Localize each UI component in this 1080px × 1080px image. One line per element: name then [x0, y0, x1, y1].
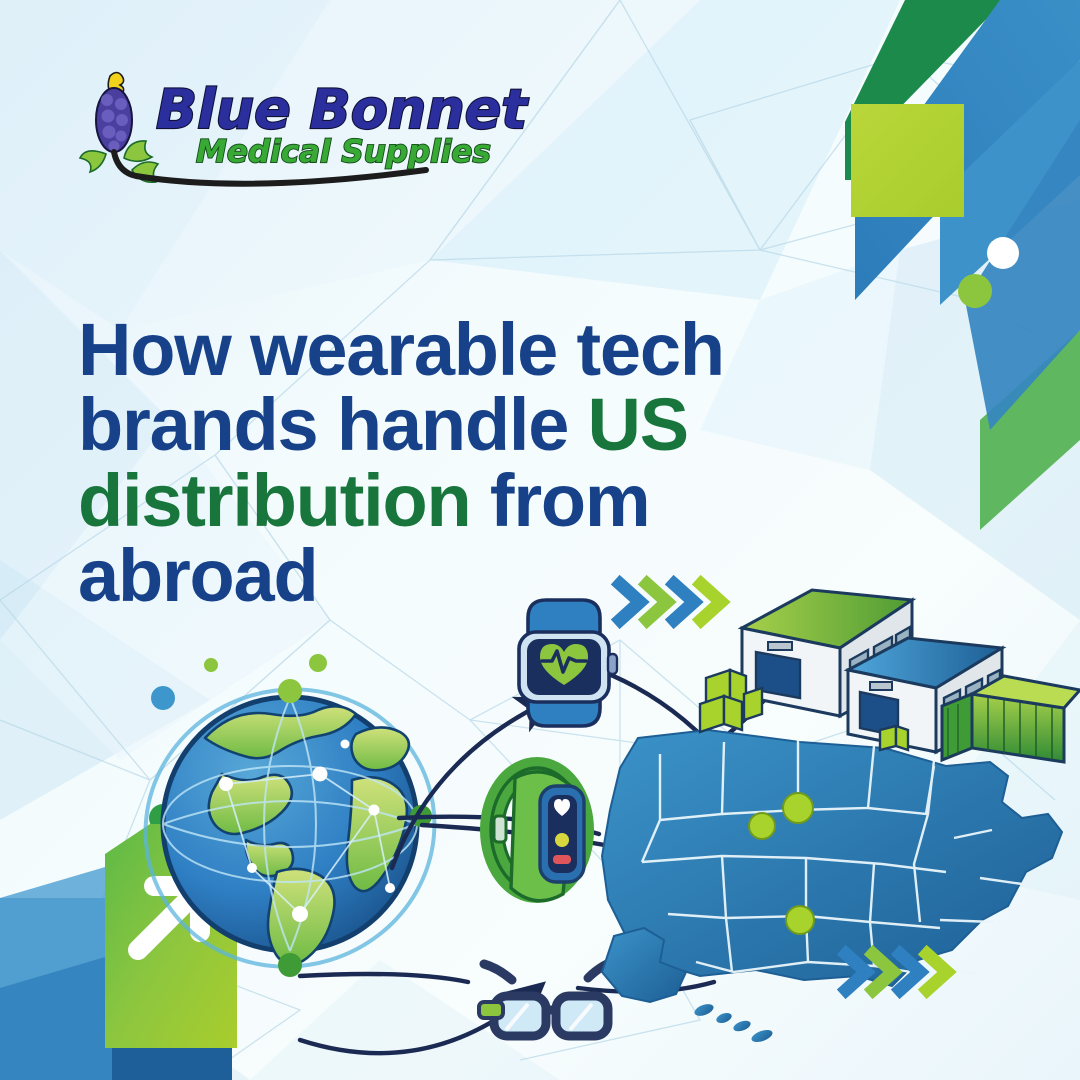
- headline-line-1: How wearable tech: [78, 308, 724, 391]
- headline-line-3b: from: [471, 459, 650, 542]
- fitness-band-icon: [491, 768, 584, 901]
- logo-title: Blue Bonnet: [156, 78, 529, 141]
- chevron-cluster-top: [620, 584, 721, 620]
- smart-glasses-icon: [479, 960, 618, 1036]
- headline-accent-us: US: [588, 383, 688, 466]
- chevron-cluster-bottom: [846, 954, 947, 990]
- world-globe: [111, 654, 469, 1003]
- headline-line-2a: brands handle: [78, 383, 588, 466]
- accent-dot-white: [987, 237, 1019, 269]
- lime-accent-square: [851, 104, 964, 217]
- poster-canvas: Blue Bonnet Medical Supplies How wearabl…: [0, 0, 1080, 1080]
- brand-logo[interactable]: Blue Bonnet Medical Supplies: [78, 58, 458, 188]
- accent-dot-lime: [958, 274, 992, 308]
- logo-subtitle: Medical Supplies: [196, 134, 491, 170]
- headline-accent-distribution: distribution: [78, 459, 471, 542]
- united-states-map: [602, 730, 1062, 1044]
- distribution-illustration: [0, 548, 1080, 1080]
- smartwatch-icon: [519, 600, 617, 726]
